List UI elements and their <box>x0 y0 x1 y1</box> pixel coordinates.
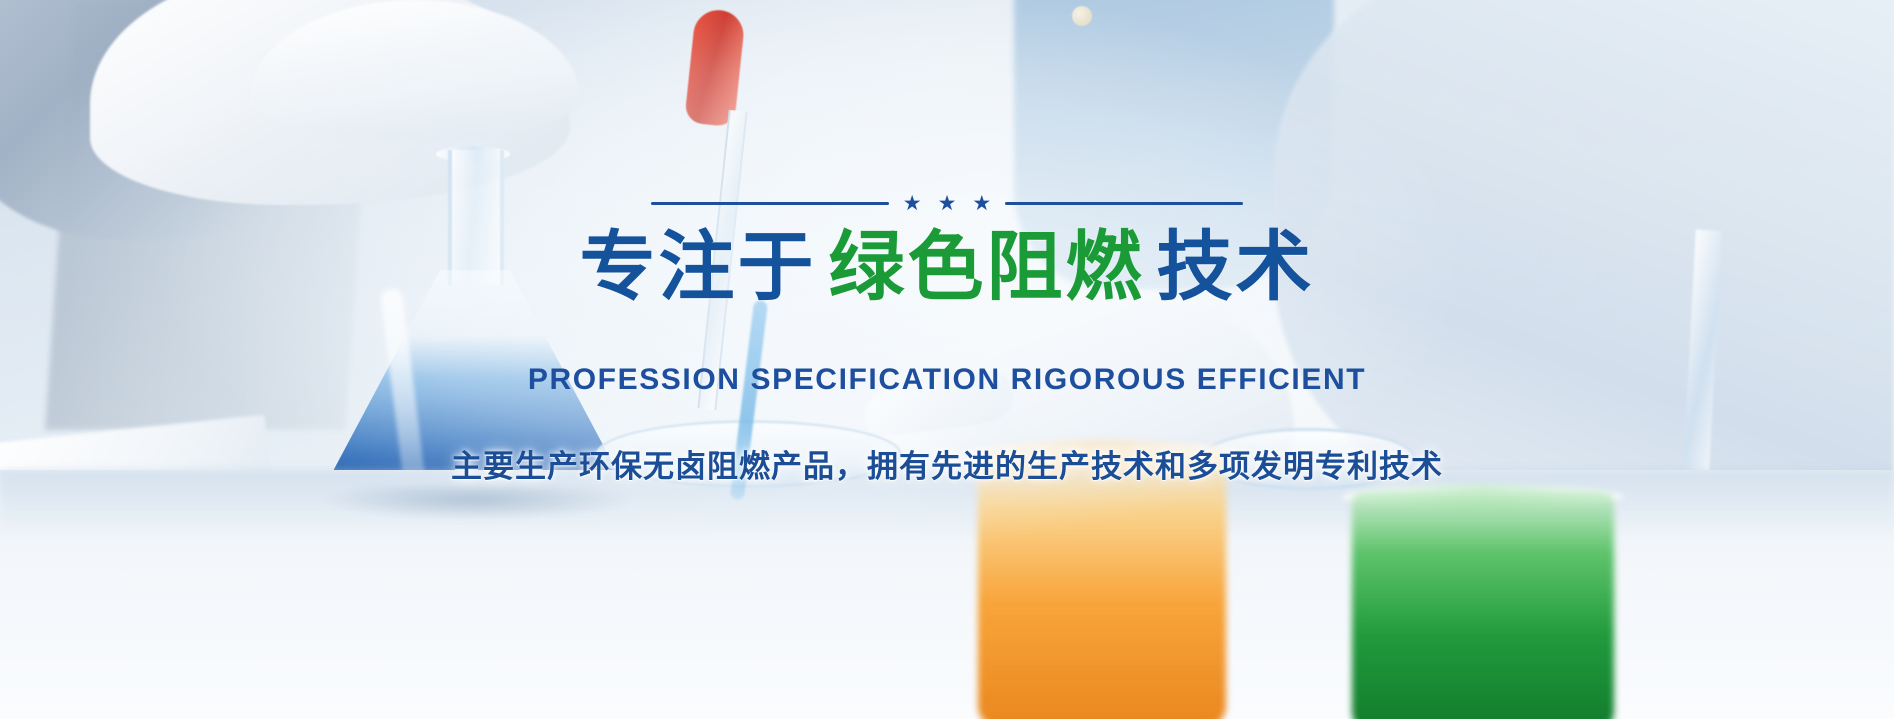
hero-banner: ★ ★ ★ 专注于绿色阻燃技术 PROFESSION SPECIFICATION… <box>0 0 1894 719</box>
star-icon: ★ <box>903 193 922 214</box>
star-group: ★ ★ ★ <box>903 193 991 214</box>
banner-content: ★ ★ ★ 专注于绿色阻燃技术 PROFESSION SPECIFICATION… <box>0 190 1894 486</box>
divider-rule-right <box>1005 202 1243 205</box>
star-icon: ★ <box>938 193 957 214</box>
banner-headline: 专注于绿色阻燃技术 <box>0 224 1894 312</box>
star-icon: ★ <box>972 193 991 214</box>
banner-tagline-chinese: 主要生产环保无卤阻燃产品，拥有先进的生产技术和多项发明专利技术 <box>0 441 1894 486</box>
banner-subtitle-english: PROFESSION SPECIFICATION RIGOROUS EFFICI… <box>0 363 1894 397</box>
headline-part-2: 绿色阻燃 <box>829 225 1145 310</box>
divider-rule-left <box>651 202 889 205</box>
decorative-divider: ★ ★ ★ <box>0 190 1894 216</box>
headline-part-1: 专注于 <box>580 225 817 310</box>
headline-part-3: 技术 <box>1157 225 1315 310</box>
